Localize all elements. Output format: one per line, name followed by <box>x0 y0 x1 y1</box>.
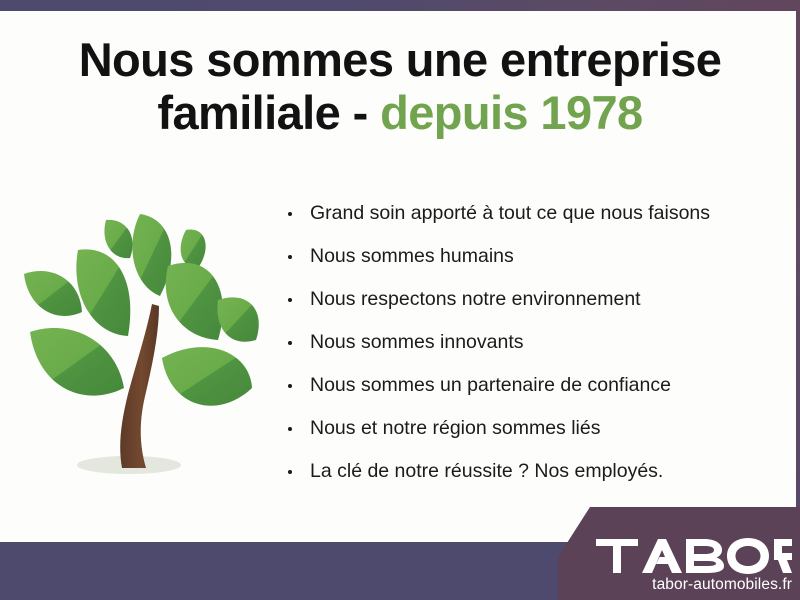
tabor-wordmark <box>596 535 792 575</box>
tree-illustration <box>12 182 274 482</box>
brand-logo-banner: tabor-automobiles.fr <box>558 500 800 600</box>
list-item-label: Nous et notre région sommes liés <box>310 417 600 439</box>
title-line-2-prefix: familiale - <box>157 86 380 139</box>
leaf-top-center <box>132 214 171 296</box>
title-line-2: familiale - depuis 1978 <box>0 87 800 140</box>
bullet-dot-icon <box>288 427 292 431</box>
title-accent-text: depuis 1978 <box>380 86 642 139</box>
list-item-label: Nous sommes un partenaire de confiance <box>310 374 671 396</box>
leaf-top-small-left <box>104 220 132 258</box>
leaf-right-small <box>217 297 258 341</box>
title-line-1: Nous sommes une entreprise <box>0 34 800 87</box>
leaf-right-large <box>162 347 252 406</box>
list-item: Grand soin apporté à tout ce que nous fa… <box>286 192 786 235</box>
top-accent-band <box>0 0 800 11</box>
slide-canvas: Nous sommes une entreprise familiale - d… <box>0 0 800 600</box>
leaf-upper-right <box>166 263 223 340</box>
leaf-top-small-right <box>181 230 206 268</box>
leaf-upper-left <box>76 249 130 336</box>
page-title: Nous sommes une entreprise familiale - d… <box>0 34 800 139</box>
list-item-label: La clé de notre réussite ? Nos employés. <box>310 460 663 482</box>
list-item-label: Nous sommes innovants <box>310 331 524 353</box>
list-item-label: Nous respectons notre environnement <box>310 288 641 310</box>
bullet-dot-icon <box>288 341 292 345</box>
bullet-dot-icon <box>288 212 292 216</box>
logo-tagline: tabor-automobiles.fr <box>596 576 792 594</box>
bullet-dot-icon <box>288 384 292 388</box>
bullet-dot-icon <box>288 255 292 259</box>
list-item-label: Grand soin apporté à tout ce que nous fa… <box>310 202 710 224</box>
leaf-left-small <box>24 271 82 316</box>
bullet-dot-icon <box>288 470 292 474</box>
list-item: Nous respectons notre environnement <box>286 278 786 321</box>
list-item: Nous sommes humains <box>286 235 786 278</box>
bullet-dot-icon <box>288 298 292 302</box>
list-item: Nous et notre région sommes liés <box>286 407 786 450</box>
value-list: Grand soin apporté à tout ce que nous fa… <box>286 192 786 493</box>
list-item: La clé de notre réussite ? Nos employés. <box>286 450 786 493</box>
leaf-left-large <box>30 328 124 396</box>
list-item: Nous sommes un partenaire de confiance <box>286 364 786 407</box>
logo-text-group: tabor-automobiles.fr <box>596 535 792 594</box>
list-item: Nous sommes innovants <box>286 321 786 364</box>
list-item-label: Nous sommes humains <box>310 245 514 267</box>
